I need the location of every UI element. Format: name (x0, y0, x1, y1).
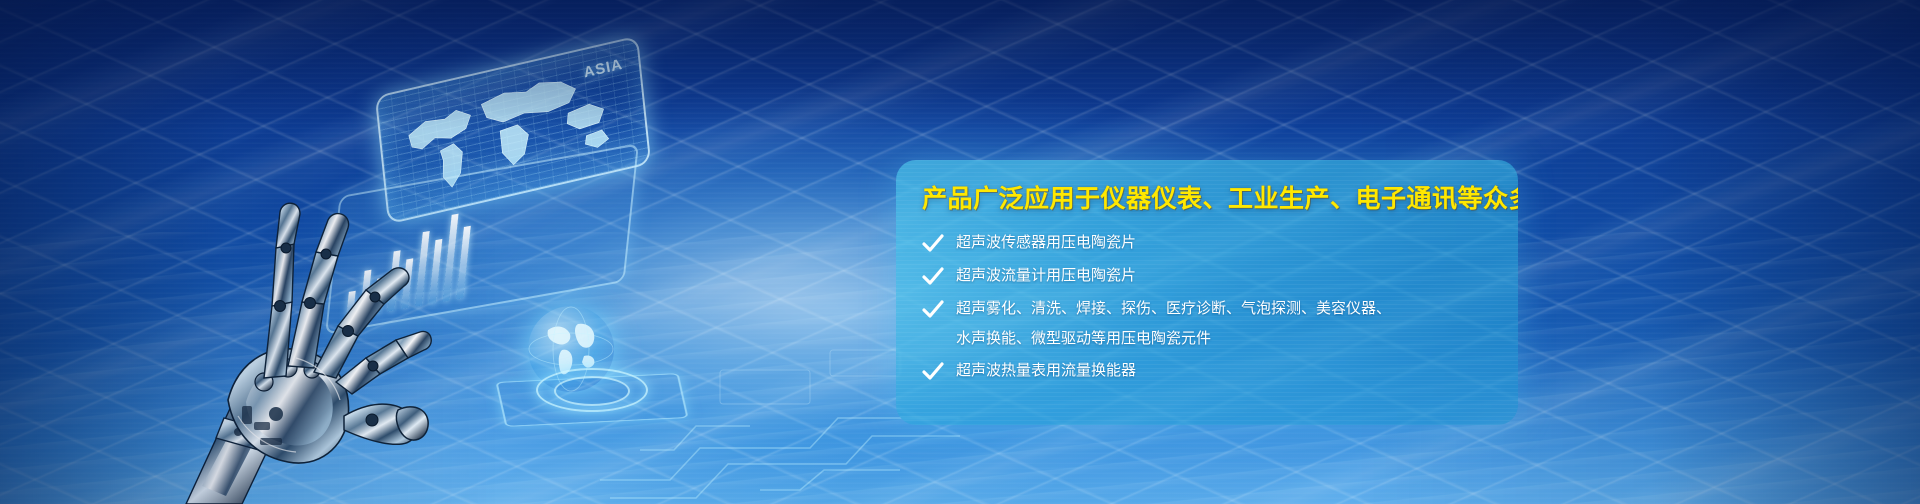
application-list: 超声波传感器用压电陶瓷片 超声波流量计用压电陶瓷片 超声雾化、清洗、焊接、探伤、… (922, 232, 1488, 383)
check-icon (922, 300, 944, 320)
list-item: 超声波传感器用压电陶瓷片 (922, 232, 1488, 254)
content-panel: 产品广泛应用于仪器仪表、工业生产、电子通讯等众多领域 超声波传感器用压电陶瓷片 … (896, 160, 1518, 425)
check-icon (922, 362, 944, 382)
list-item-label: 超声波流量计用压电陶瓷片 (956, 265, 1136, 286)
product-application-banner: ASIA (0, 0, 1920, 504)
check-icon (922, 234, 944, 254)
list-item: 超声波热量表用流量换能器 (922, 360, 1488, 382)
list-item-label: 超声波热量表用流量换能器 (956, 360, 1136, 381)
list-item: 超声波流量计用压电陶瓷片 (922, 265, 1488, 287)
list-item-label-line2: 水声换能、微型驱动等用压电陶瓷元件 (956, 328, 1391, 349)
list-item-label: 超声波传感器用压电陶瓷片 (956, 232, 1136, 253)
page-title: 产品广泛应用于仪器仪表、工业生产、电子通讯等众多领域 (922, 186, 1488, 214)
list-item-label: 超声雾化、清洗、焊接、探伤、医疗诊断、气泡探测、美容仪器、 水声换能、微型驱动等… (956, 298, 1391, 350)
list-item-label-line1: 超声雾化、清洗、焊接、探伤、医疗诊断、气泡探测、美容仪器、 (956, 300, 1391, 317)
holographic-bar-chart (346, 209, 473, 319)
list-item: 超声雾化、清洗、焊接、探伤、医疗诊断、气泡探测、美容仪器、 水声换能、微型驱动等… (922, 298, 1488, 350)
check-icon (922, 267, 944, 287)
